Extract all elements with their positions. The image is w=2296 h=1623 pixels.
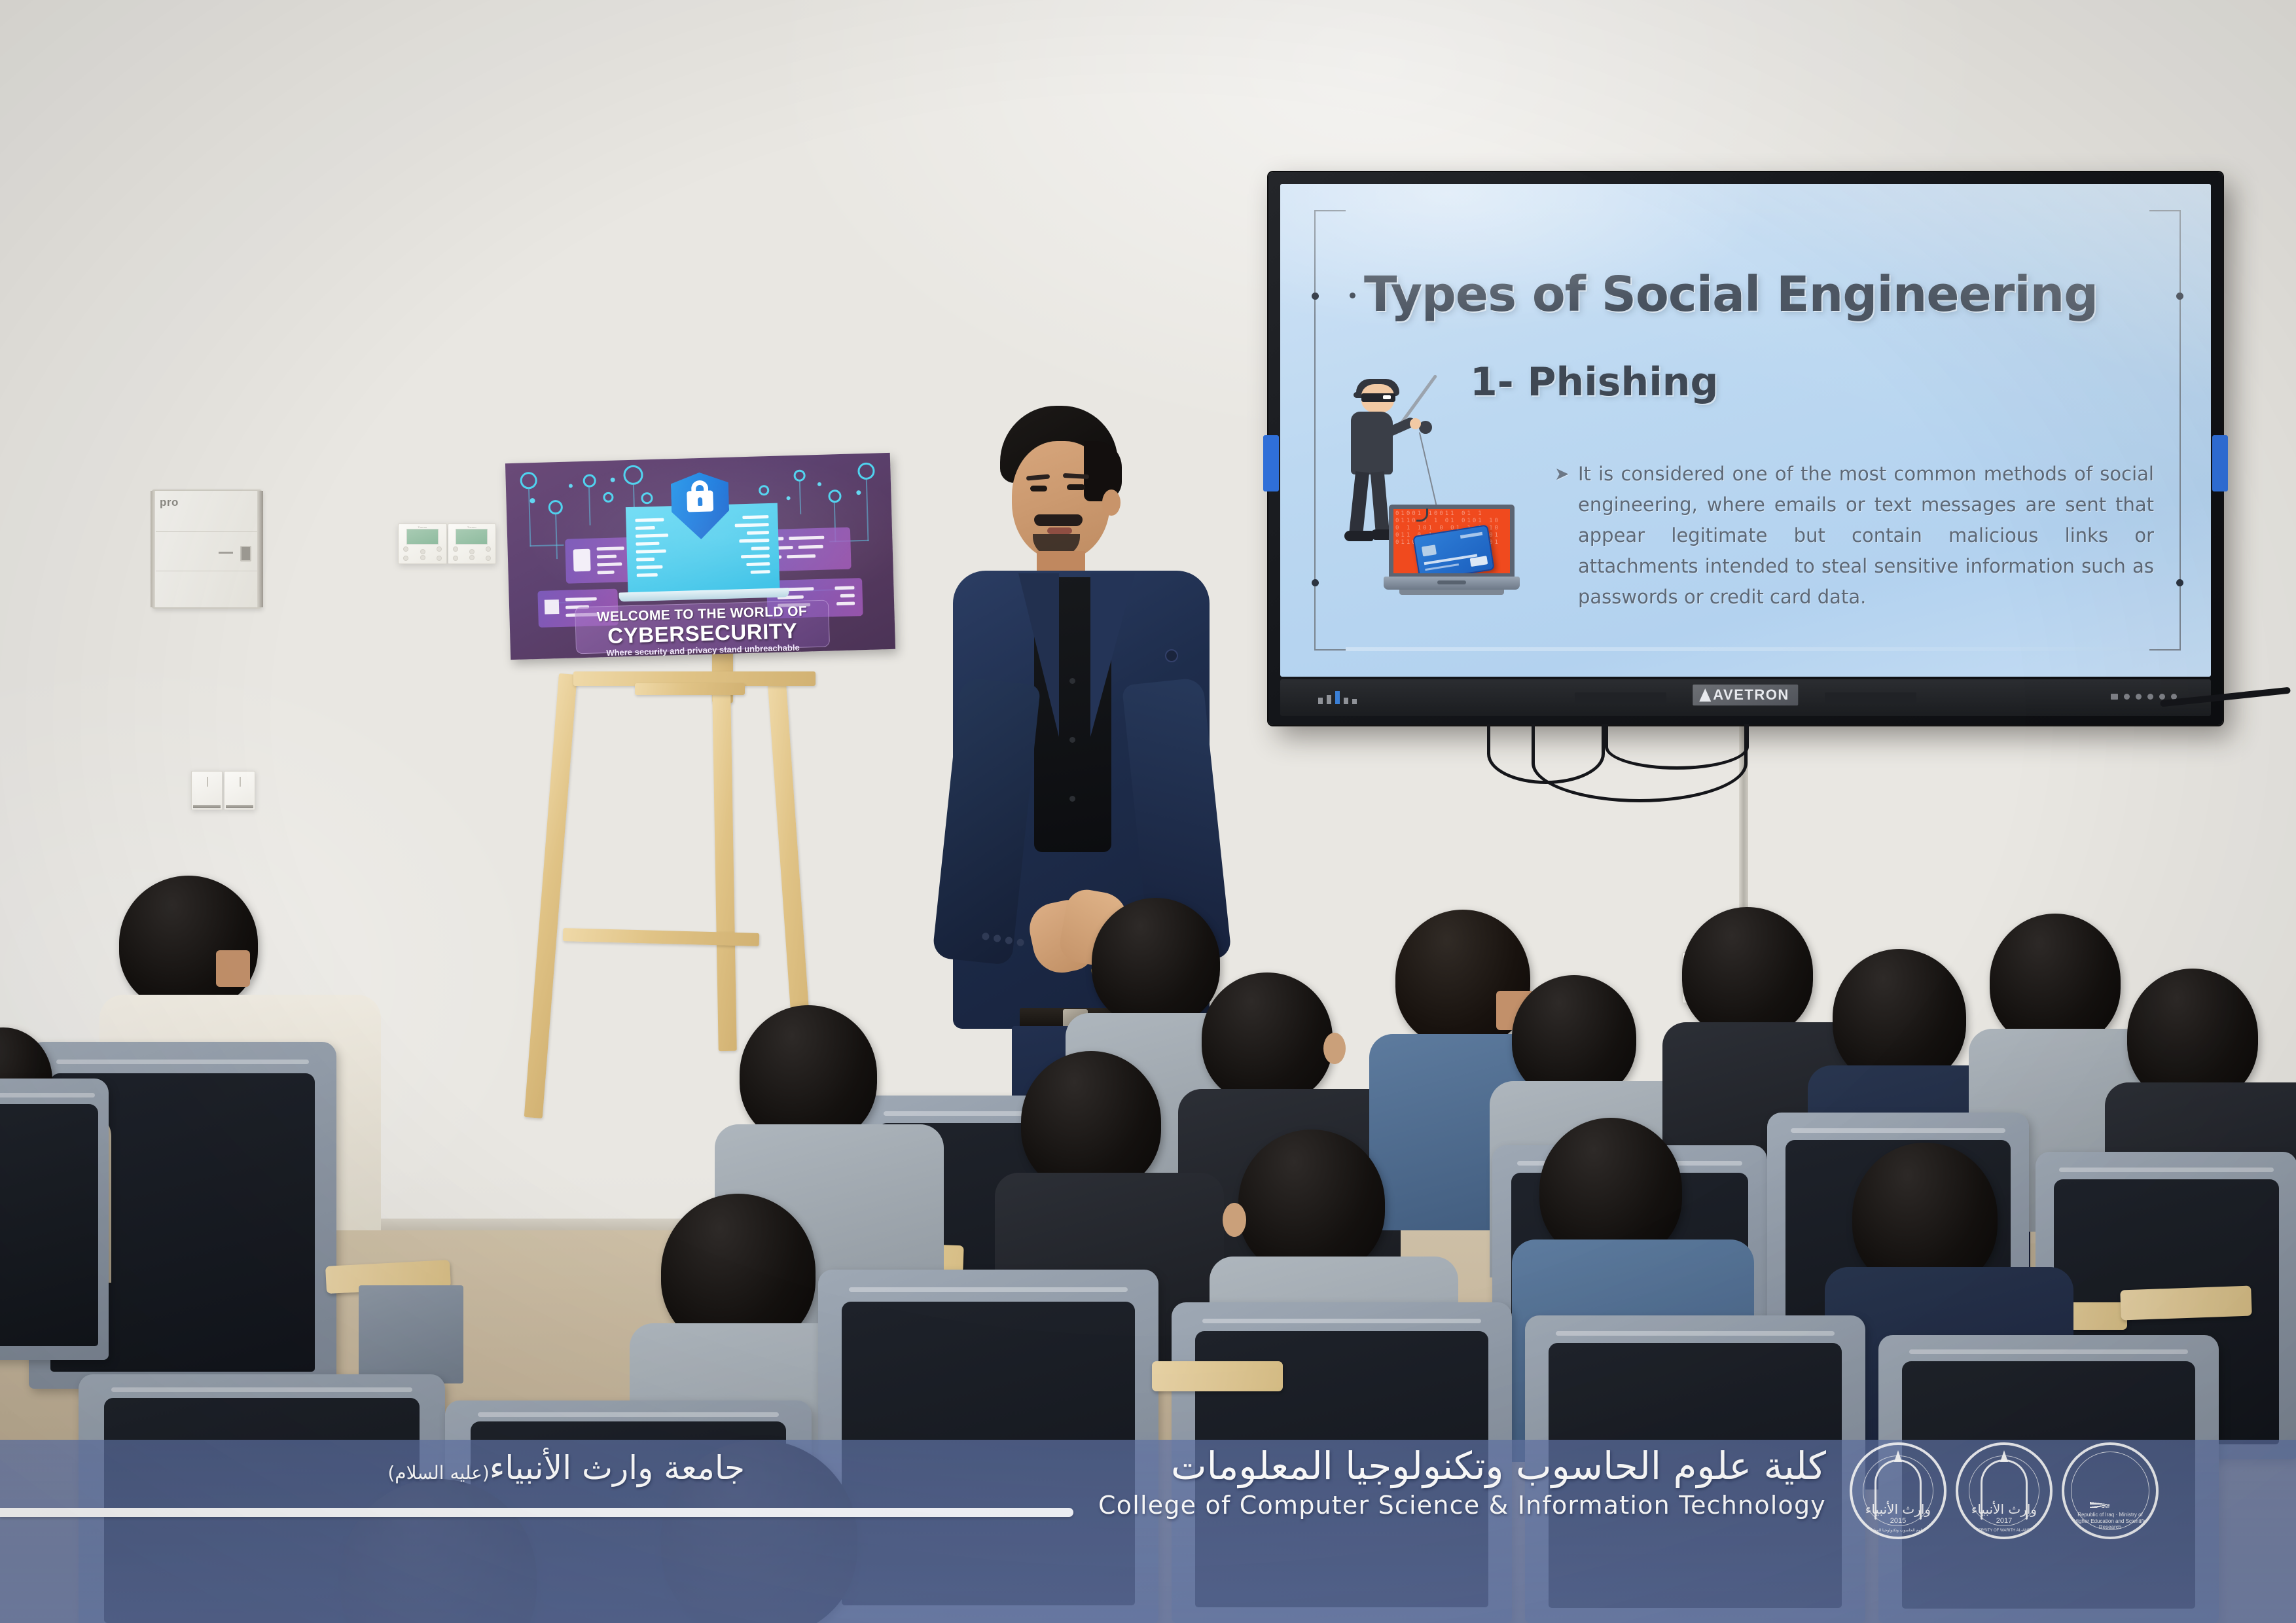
shirt-button [1069, 737, 1075, 743]
logo-subtitle: UNIVERSITY OF WARITH AL-ANBIYAA [1958, 1529, 2050, 1533]
slide-title: Types of Social Engineering [1364, 266, 2098, 323]
panel-latch-knob[interactable] [240, 546, 251, 562]
university-name-arabic: جامعة وارث الأنبياء(عليه السلام) [77, 1449, 745, 1487]
audience-head [1238, 1130, 1385, 1276]
branding-footer-banner: جامعة وارث الأنبياء(عليه السلام) كلية عل… [0, 1440, 2296, 1623]
display-speaker-vent [1825, 692, 1916, 703]
light-switch-pair[interactable] [191, 771, 255, 810]
audience-head [119, 876, 258, 1010]
thief-torso [1351, 412, 1393, 474]
shirt-button [1069, 796, 1075, 802]
light-switch[interactable] [191, 771, 223, 810]
laptop-screen: 01001 10011 01 1 0110 0 1 01 0101 10 0 1… [1389, 505, 1515, 578]
university-book-logo[interactable]: وارث الأنبياء 2017 UNIVERSITY OF WARITH … [1956, 1442, 2053, 1539]
audience-head [1021, 1051, 1161, 1192]
presenter-moustache [1034, 514, 1083, 526]
cybersecurity-poster: WELCOME TO THE WORLD OF CYBERSECURITY Wh… [505, 453, 895, 660]
interactive-display[interactable]: Types of Social Engineering 1- Phishing … [1268, 172, 2223, 725]
slide-title-text: Types of Social Engineering [1364, 266, 2098, 323]
panel-left-edge [151, 491, 155, 607]
display-cable [1605, 724, 1749, 770]
university-name-arabic-text: جامعة وارث الأنبياء [490, 1449, 745, 1487]
audience-head [1990, 914, 2121, 1047]
card-logo-stripe [1460, 532, 1482, 539]
slide-bullet-arrow-icon: ➤ [1554, 460, 1570, 489]
seat-side-panel [359, 1285, 463, 1383]
electrical-panel[interactable]: pro [152, 490, 262, 609]
logo-year: 2015 [1852, 1517, 1944, 1525]
panel-indicator-dash [219, 552, 233, 554]
thermostat-lcd-screen [456, 529, 488, 544]
presenter-ear [1102, 490, 1121, 516]
audience-head [1833, 949, 1966, 1085]
thief-hand [1410, 418, 1421, 429]
audience-ear [1323, 1033, 1346, 1064]
slide-body-paragraph: ➤ It is considered one of the most commo… [1578, 459, 2154, 613]
poster-glare [505, 453, 895, 660]
slide-title-bullet-dot [1350, 293, 1355, 298]
panel-seam [156, 531, 258, 532]
display-bottom-bezel: AVETRON [1280, 679, 2211, 716]
thief-leg [1349, 471, 1369, 537]
presenter-mouth [1047, 527, 1072, 534]
fishing-reel-icon [1419, 421, 1432, 434]
footer-divider-rule [0, 1508, 1073, 1517]
display-side-tab-left[interactable] [1263, 435, 1279, 491]
brand-triangle-icon [1699, 688, 1711, 702]
audience-nape [216, 950, 250, 987]
display-brand-logo: AVETRON [1693, 685, 1798, 705]
display-ports[interactable] [1318, 691, 1357, 704]
thermostat-pair[interactable]: Thermo Thermo [398, 524, 496, 564]
thermostat-lcd-screen [406, 529, 439, 544]
presenter-eye [1067, 484, 1085, 490]
college-name-arabic: كلية علوم الحاسوب وتكنولوجيا المعلومات [1086, 1444, 1826, 1488]
blazer-lapel-pin [1165, 649, 1178, 662]
display-control-buttons[interactable] [2111, 694, 2177, 700]
audience-head [1202, 972, 1333, 1103]
audience-head [740, 1005, 877, 1144]
seat-armrest [2120, 1286, 2251, 1321]
thermostat-buttons[interactable] [452, 545, 492, 561]
card-hologram [1470, 556, 1488, 567]
shirt-button [1069, 678, 1075, 684]
university-seal-logo[interactable]: وارث الأنبياء 2015 كلية علوم الحاسوب وتك… [1850, 1442, 1946, 1539]
thief-eye-mask-icon [1361, 393, 1395, 402]
easel-leg-left [524, 673, 577, 1118]
thermostat-buttons[interactable] [403, 545, 442, 561]
panel-brand-label: pro [160, 496, 179, 509]
auditorium-seat[interactable] [0, 1079, 109, 1360]
slide-body-text: It is considered one of the most common … [1578, 463, 2154, 608]
display-side-tab-right[interactable] [2212, 435, 2228, 491]
logo-year: 2017 [1958, 1517, 2050, 1525]
panel-seam [156, 571, 258, 571]
ministry-of-higher-education-logo[interactable]: Republic of Iraq · Ministry of Higher Ed… [2062, 1442, 2159, 1539]
phishing-illustration: 01001 10011 01 1 0110 0 1 01 0101 10 0 1… [1336, 380, 1526, 603]
card-chip [1422, 544, 1437, 556]
thermostat-unit[interactable]: Thermo [398, 524, 447, 564]
easel-leg-center [712, 685, 737, 1051]
display-speaker-vent [1575, 692, 1666, 703]
audience-ear [1223, 1203, 1246, 1237]
laptop-base [1384, 577, 1520, 590]
college-name-english: College of Computer Science & Informatio… [1086, 1491, 1826, 1520]
presenter-eye [1030, 486, 1047, 491]
college-name-block: كلية علوم الحاسوب وتكنولوجيا المعلومات C… [1086, 1444, 1826, 1520]
logo-arabic-text: وارث الأنبياء [1958, 1501, 2050, 1517]
light-switch[interactable] [224, 771, 255, 810]
logo-subtitle: Republic of Iraq · Ministry of Higher Ed… [2064, 1512, 2156, 1530]
card-name-line [1425, 563, 1459, 571]
logo-subtitle: كلية علوم الحاسوب وتكنولوجيا المعلومات [1852, 1528, 1944, 1533]
display-screen[interactable]: Types of Social Engineering 1- Phishing … [1280, 184, 2211, 677]
laptop-icon: 01001 10011 01 1 0110 0 1 01 0101 10 0 1… [1384, 505, 1520, 601]
panel-right-edge [257, 491, 263, 607]
seat-armrest [1152, 1361, 1283, 1391]
audience-head [1092, 898, 1220, 1026]
presentation-slide: Types of Social Engineering 1- Phishing … [1280, 184, 2211, 677]
fishing-line [1419, 432, 1439, 512]
lecture-hall-photo: pro Thermo Thermo [0, 0, 2296, 1623]
logo-arabic-text: وارث الأنبياء [1852, 1501, 1944, 1517]
easel-tray-support [635, 683, 745, 695]
university-name-arabic-suffix: (عليه السلام) [387, 1462, 490, 1484]
footer-logo-group: وارث الأنبياء 2015 كلية علوم الحاسوب وتك… [1850, 1442, 2159, 1539]
laptop-foot [1399, 590, 1504, 595]
thermostat-unit[interactable]: Thermo [448, 524, 497, 564]
display-brand-text: AVETRON [1713, 687, 1789, 704]
sunburst-icon [2090, 1474, 2130, 1508]
thief-shoe [1344, 531, 1373, 541]
audience-head [1682, 907, 1813, 1038]
